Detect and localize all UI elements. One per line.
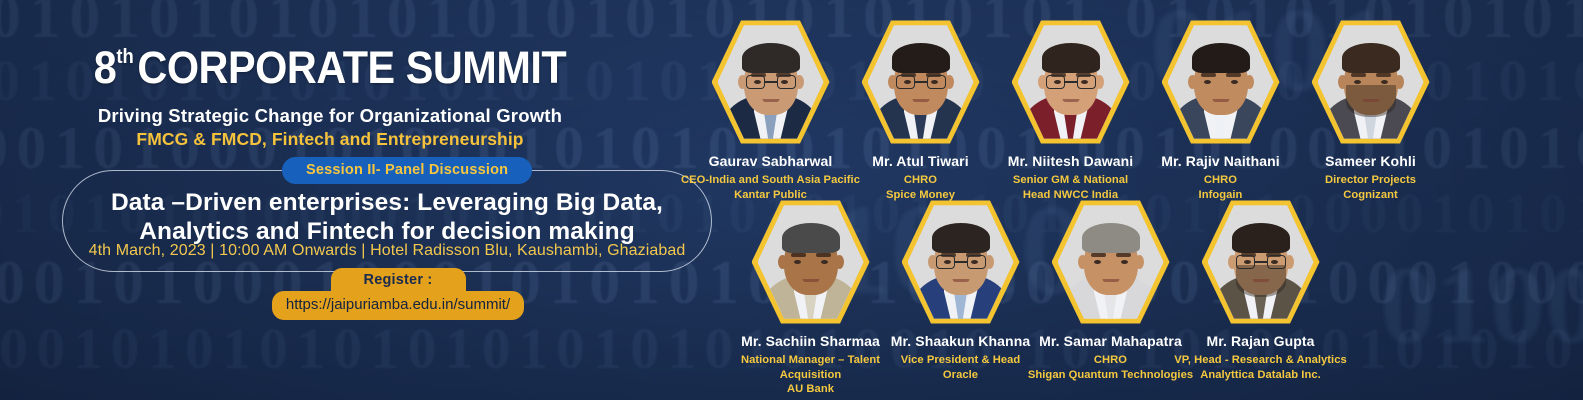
speaker-card[interactable]: Sameer KohliDirector ProjectsCognizant: [1274, 18, 1467, 202]
mouth-shape: [1062, 99, 1079, 102]
edition-number: 8: [94, 42, 117, 93]
glasses-icon: [896, 75, 946, 89]
event-meta: 4th March, 2023 | 10:00 AM Onwards | Hot…: [70, 242, 704, 260]
ear-shape: [778, 255, 787, 269]
eye-shape: [821, 260, 828, 264]
mouth-shape: [1362, 99, 1379, 102]
portrait-shaakun-khanna: [908, 203, 1014, 321]
ear-shape: [795, 75, 804, 89]
speaker-photo: [908, 203, 1014, 321]
ear-shape: [1395, 75, 1404, 89]
edition-ordinal: th: [116, 46, 133, 68]
eyebrow-shape: [1201, 73, 1216, 77]
ear-shape: [1188, 75, 1197, 89]
speaker-photo: [1058, 203, 1164, 321]
summit-banner: 0101010101010101010101010101 01010101010…: [0, 0, 1583, 400]
mouth-shape: [762, 99, 779, 102]
hexagon-photo-frame: [1052, 198, 1170, 326]
title-words: CORPORATE SUMMIT: [137, 42, 566, 93]
glasses-icon: [1236, 255, 1286, 269]
speaker-photo: [718, 23, 824, 141]
page-title: 8thCORPORATE SUMMIT: [26, 45, 633, 90]
eye-shape: [1231, 80, 1238, 84]
speaker-name: Mr. Rajan Gupta: [1164, 333, 1357, 349]
eye-shape: [1204, 80, 1211, 84]
eyebrow-shape: [816, 253, 831, 257]
hexagon-photo-frame: [1162, 18, 1280, 146]
speaker-photo: [868, 23, 974, 141]
hexagon-photo-frame: [862, 18, 980, 146]
speaker-role-line-2: AU Bank: [714, 382, 907, 397]
speaker-name: Sameer Kohli: [1274, 153, 1467, 169]
speaker-photo: [1208, 203, 1314, 321]
hair-shape: [742, 43, 800, 73]
ear-shape: [1245, 75, 1254, 89]
glasses-icon: [936, 255, 986, 269]
ear-shape: [1135, 255, 1144, 269]
eyebrow-shape: [791, 253, 806, 257]
speaker-role-line-1: VP, Head - Research & Analytics: [1164, 353, 1357, 368]
hair-shape: [1232, 223, 1290, 253]
ear-shape: [985, 255, 994, 269]
subtitle-primary: Driving Strategic Change for Organizatio…: [0, 105, 660, 127]
mouth-shape: [912, 99, 929, 102]
speaker-role: VP, Head - Research & AnalyticsAnalyttic…: [1164, 353, 1357, 382]
hair-shape: [1342, 43, 1400, 73]
register-url[interactable]: https://jaipuriamba.edu.in/summit/: [272, 291, 524, 320]
hexagon-photo-frame: [1012, 18, 1130, 146]
portrait-samar-mahapatra: [1058, 203, 1164, 321]
eye-shape: [1381, 80, 1388, 84]
portrait-rajiv-naithani: [1168, 23, 1274, 141]
ear-shape: [835, 255, 844, 269]
hair-shape: [932, 223, 990, 253]
mouth-shape: [802, 279, 819, 282]
ear-shape: [1078, 255, 1087, 269]
speaker-photo: [1018, 23, 1124, 141]
speaker-photo: [1168, 23, 1274, 141]
register-label: Register :: [331, 268, 466, 291]
speaker-card[interactable]: Mr. Rajan GuptaVP, Head - Research & Ana…: [1164, 198, 1357, 382]
speaker-photo: [1318, 23, 1424, 141]
hexagon-photo-frame: [752, 198, 870, 326]
portrait-rajan-gupta: [1208, 203, 1314, 321]
speaker-role-line-1: Director Projects: [1274, 173, 1467, 188]
eyebrow-shape: [1351, 73, 1366, 77]
hexagon-photo-frame: [1202, 198, 1320, 326]
eyebrow-shape: [1376, 73, 1391, 77]
ear-shape: [1338, 75, 1347, 89]
eye-shape: [1354, 80, 1361, 84]
mouth-shape: [952, 279, 969, 282]
subtitle-secondary: FMCG & FMCD, Fintech and Entrepreneurshi…: [0, 129, 660, 150]
speaker-photo: [758, 203, 864, 321]
eye-shape: [1094, 260, 1101, 264]
eye-shape: [1121, 260, 1128, 264]
eyebrow-shape: [1091, 253, 1106, 257]
ear-shape: [1095, 75, 1104, 89]
hexagon-photo-frame: [1312, 18, 1430, 146]
portrait-sachiin-sharmaa: [758, 203, 864, 321]
hexagon-photo-frame: [902, 198, 1020, 326]
glasses-icon: [746, 75, 796, 89]
event-info-block: 8thCORPORATE SUMMIT Driving Strategic Ch…: [0, 0, 720, 400]
eye-shape: [794, 260, 801, 264]
portrait-niitesh-dawani: [1018, 23, 1124, 141]
glasses-icon: [1046, 75, 1096, 89]
session-badge: Session II- Panel Discussion: [282, 157, 532, 184]
portrait-sameer-kohli: [1318, 23, 1424, 141]
ear-shape: [1285, 255, 1294, 269]
register-block[interactable]: Register : https://jaipuriamba.edu.in/su…: [272, 268, 524, 320]
session-title-line-1: Data –Driven enterprises: Leveraging Big…: [70, 189, 704, 218]
session-title: Data –Driven enterprises: Leveraging Big…: [70, 189, 704, 246]
hair-shape: [1192, 43, 1250, 73]
mouth-shape: [1212, 99, 1229, 102]
speakers-grid: Gaurav SabharwalCEO-India and South Asia…: [690, 0, 1583, 400]
mouth-shape: [1102, 279, 1119, 282]
hair-shape: [1082, 223, 1140, 253]
speaker-role-line-2: Analyttica Datalab Inc.: [1164, 368, 1357, 383]
hair-shape: [892, 43, 950, 73]
mouth-shape: [1252, 279, 1269, 282]
portrait-gaurav-sabharwal: [718, 23, 824, 141]
portrait-atul-tiwari: [868, 23, 974, 141]
hair-shape: [1042, 43, 1100, 73]
ear-shape: [945, 75, 954, 89]
hexagon-photo-frame: [712, 18, 830, 146]
hair-shape: [782, 223, 840, 253]
eyebrow-shape: [1116, 253, 1131, 257]
eyebrow-shape: [1226, 73, 1241, 77]
